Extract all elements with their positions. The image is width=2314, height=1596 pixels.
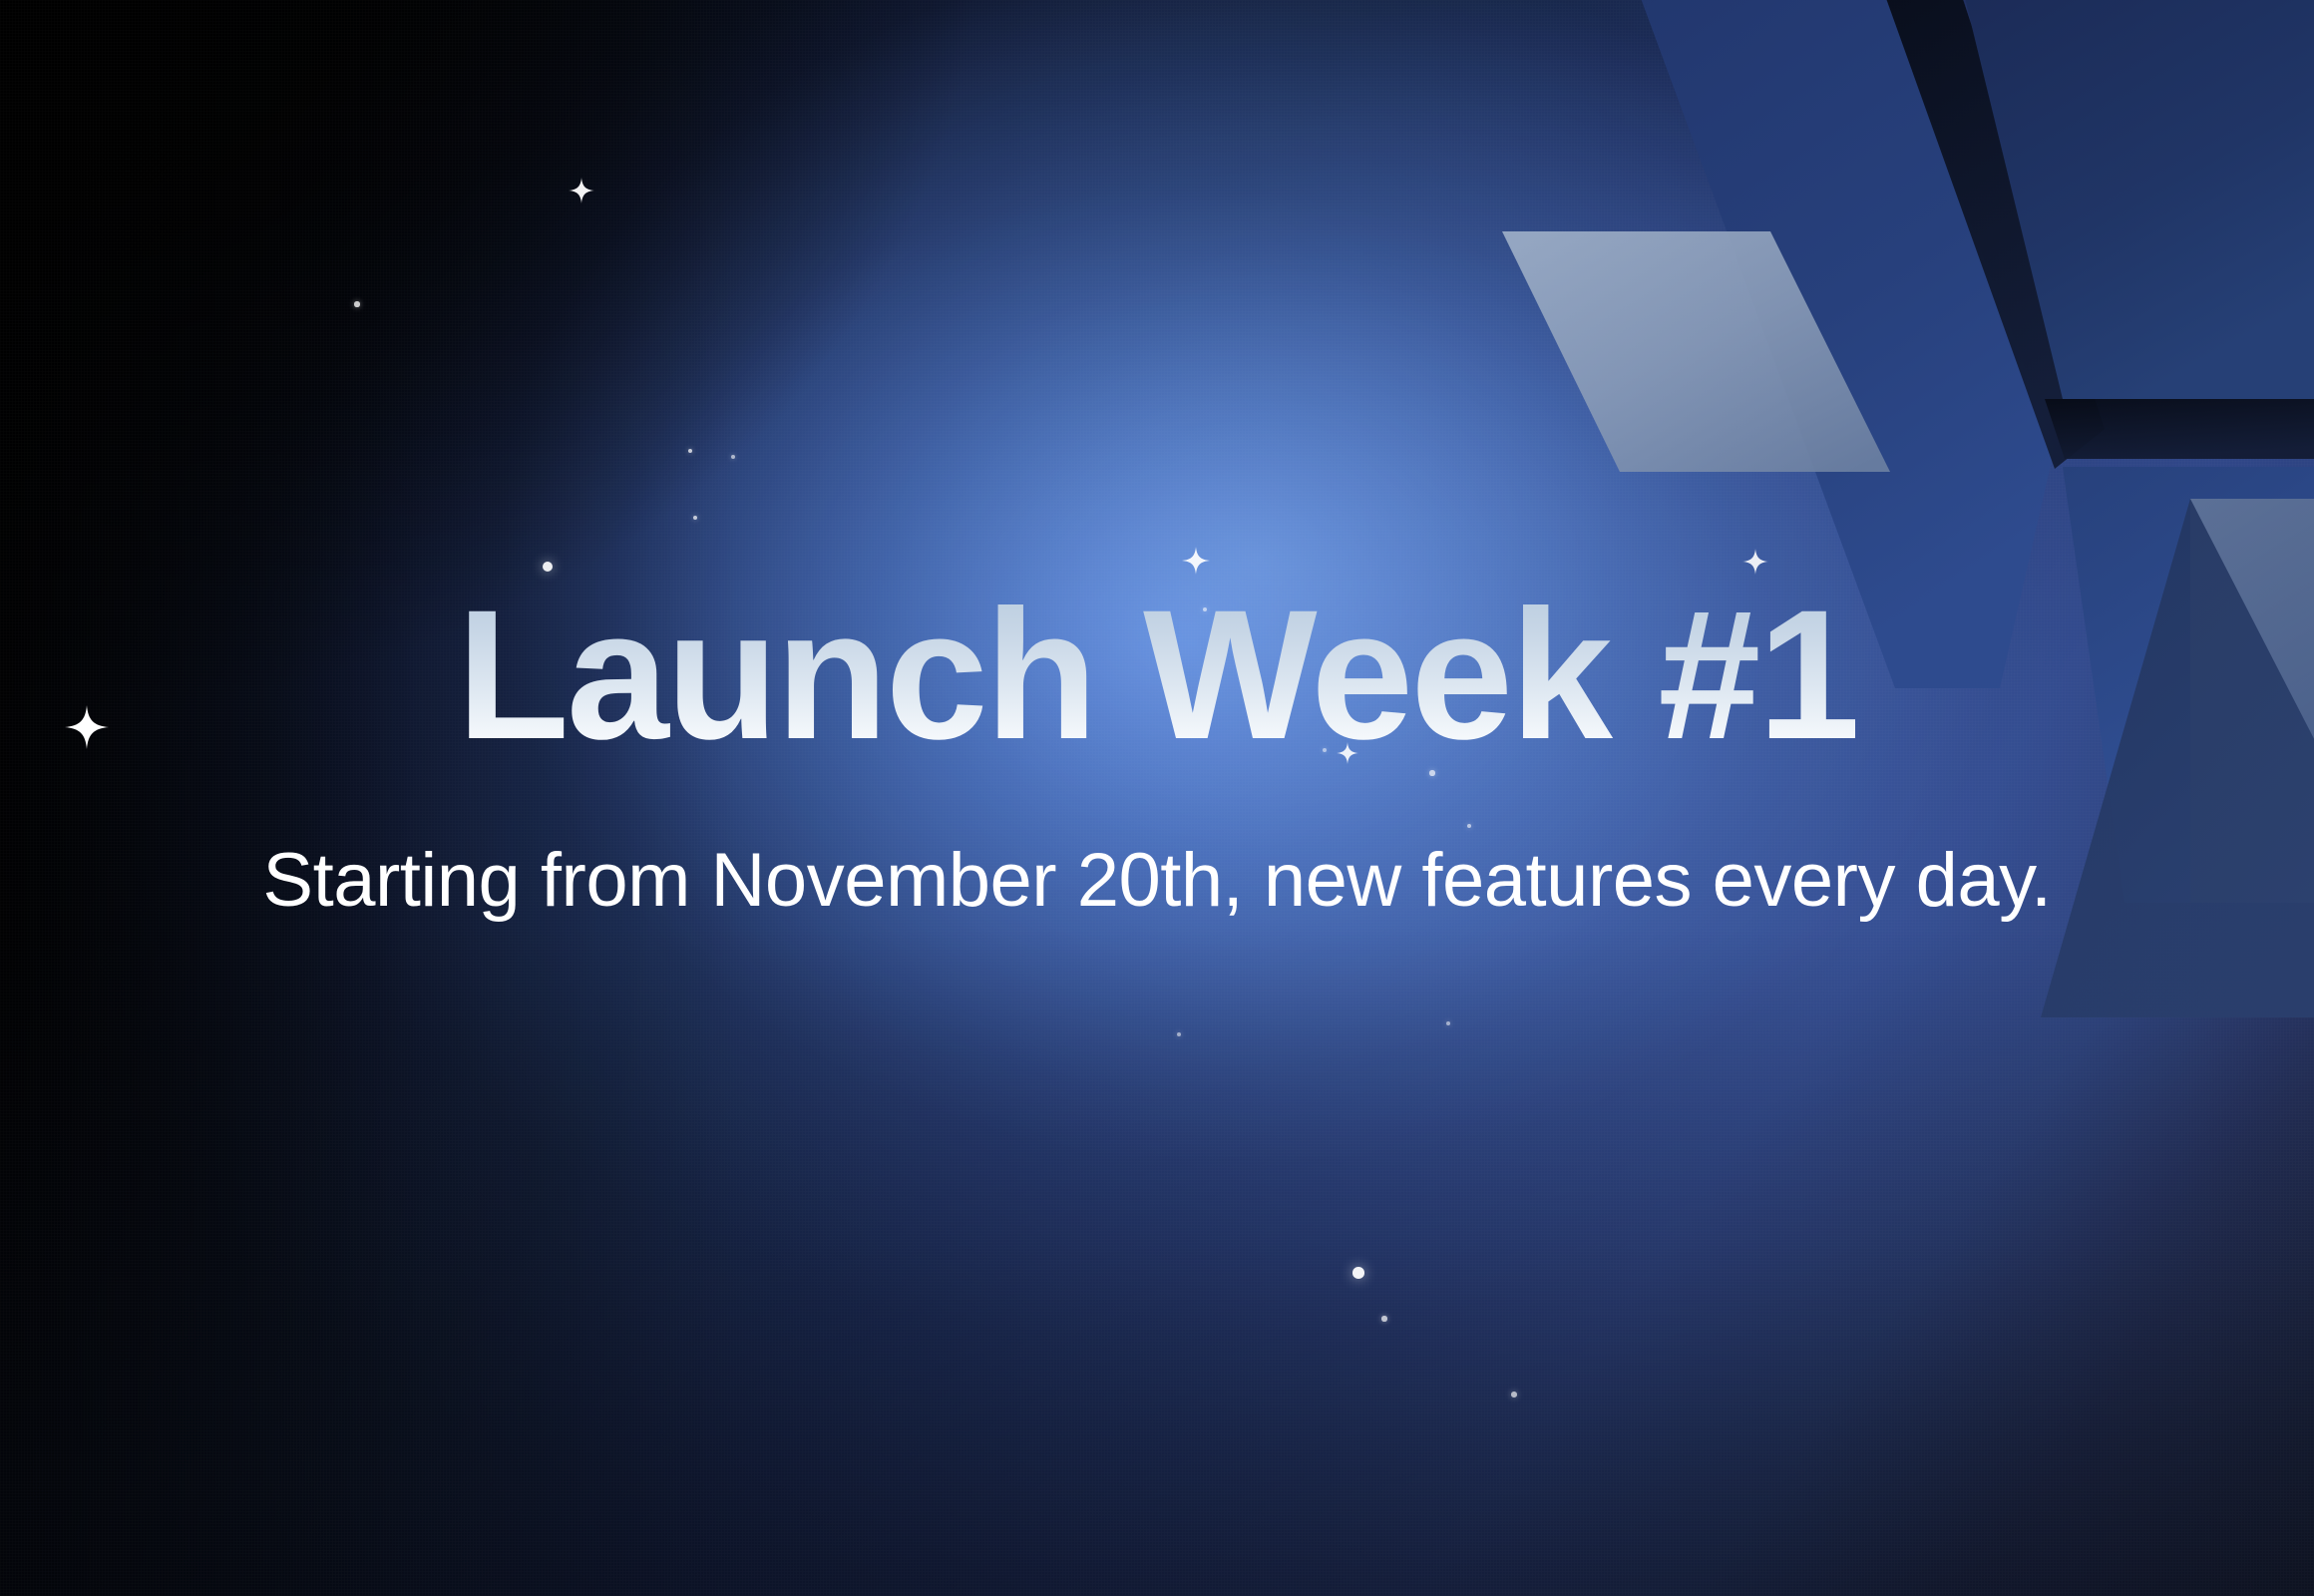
- hero-content: Launch Week #1 Starting from November 20…: [0, 0, 2314, 1596]
- launch-week-hero-banner: Launch Week #1 Starting from November 20…: [0, 0, 2314, 1596]
- page-title: Launch Week #1: [0, 584, 2314, 768]
- hero-subtitle: Starting from November 20th, new feature…: [0, 843, 2314, 919]
